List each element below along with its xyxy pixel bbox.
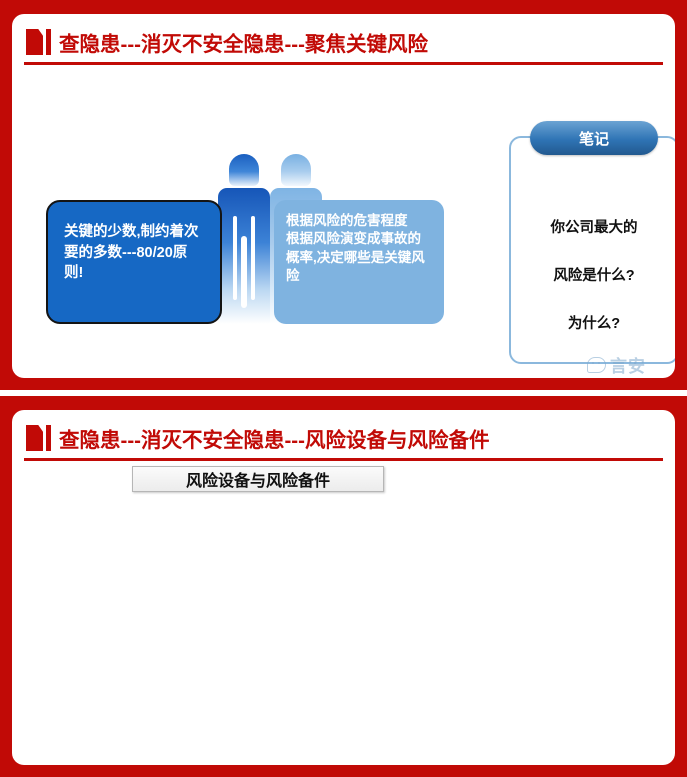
- slide-2-title-row: 查隐患---消灭不安全隐患---风险设备与风险备件: [12, 418, 675, 458]
- risk-criteria-box: 根据风险的危害程度 根据风险演变成事故的概率,决定哪些是关键风险: [274, 200, 444, 324]
- wechat-icon: [587, 357, 606, 373]
- watermark-text: 言安: [610, 352, 646, 377]
- chart-title-box: 风险设备与风险备件: [132, 466, 384, 492]
- notes-line: 风险是什么?: [553, 264, 634, 285]
- title-bar-icon: [46, 29, 51, 55]
- presentation-page: 查隐患---消灭不安全隐患---聚焦关键风险 关键的少数,制约着次要的多数---…: [0, 0, 687, 777]
- watermark-1: 言安: [587, 352, 646, 377]
- person-head: [229, 154, 259, 186]
- notes-line: 你公司最大的: [551, 216, 638, 237]
- slide-2: 查隐患---消灭不安全隐患---风险设备与风险备件 风险设备与风险备件 高辐射: [0, 396, 687, 777]
- flag-icon: [26, 29, 43, 55]
- slide-1-canvas: 查隐患---消灭不安全隐患---聚焦关键风险 关键的少数,制约着次要的多数---…: [12, 14, 675, 378]
- person-silhouette-dark: [218, 154, 270, 324]
- slide-2-canvas: 查隐患---消灭不安全隐患---风险设备与风险备件 风险设备与风险备件 高辐射: [12, 410, 675, 765]
- notes-header-1: 笔记: [530, 121, 658, 155]
- slide-1: 查隐患---消灭不安全隐患---聚焦关键风险 关键的少数,制约着次要的多数---…: [0, 0, 687, 390]
- notes-line: 为什么?: [568, 312, 620, 333]
- person-arm-gap-right: [251, 216, 255, 300]
- person-head: [281, 154, 311, 186]
- title-bar-icon: [46, 425, 51, 451]
- title-divider: [24, 458, 663, 461]
- notes-panel-1: 笔记 你公司最大的 风险是什么? 为什么?: [509, 136, 675, 364]
- person-leg-gap: [241, 236, 247, 308]
- slide-1-title-row: 查隐患---消灭不安全隐患---聚焦关键风险: [12, 22, 675, 62]
- notes-body-1: 你公司最大的 风险是什么? 为什么?: [511, 164, 675, 358]
- key-minority-box: 关键的少数,制约着次要的多数---80/20原则!: [46, 200, 222, 324]
- person-arm-gap-left: [233, 216, 237, 300]
- title-divider: [24, 62, 663, 65]
- flag-icon: [26, 425, 43, 451]
- slide-2-title: 查隐患---消灭不安全隐患---风险设备与风险备件: [59, 423, 489, 453]
- slide-1-title: 查隐患---消灭不安全隐患---聚焦关键风险: [59, 27, 428, 57]
